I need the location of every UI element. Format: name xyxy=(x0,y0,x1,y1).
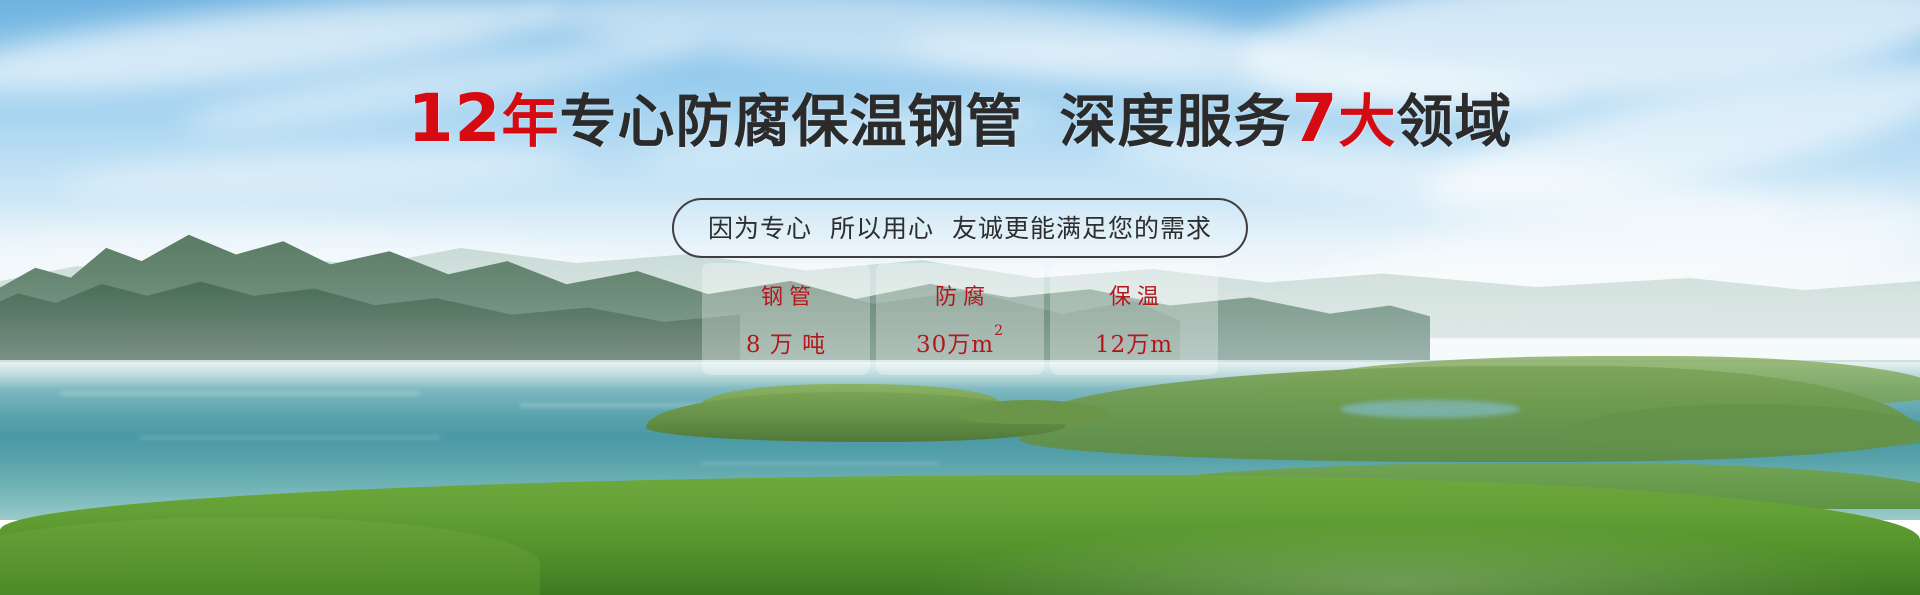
stat-card-insulation[interactable]: 保温 12万m xyxy=(1050,263,1218,375)
headline-years-number: 12 xyxy=(408,80,502,157)
stat-card-steel-pipe[interactable]: 钢管 8 万 吨 xyxy=(702,263,870,375)
water-reflection-streak xyxy=(60,392,420,395)
marsh-pool xyxy=(1340,400,1520,418)
stat-card-value: 8 万 吨 xyxy=(746,325,826,359)
headline-fields-unit: 大 xyxy=(1338,89,1396,155)
stat-value-text: 12万m xyxy=(1095,332,1173,358)
stat-card-value: 12万m xyxy=(1095,325,1173,359)
water-reflection-streak xyxy=(700,462,940,465)
banner-headline: 12年专心防腐保温钢管深度服务7大领域 xyxy=(0,86,1920,152)
slogan-phrase-1: 因为专心 xyxy=(708,214,812,243)
headline-fields-text: 领域 xyxy=(1396,89,1512,155)
headline-service-text: 深度服务 xyxy=(1059,89,1291,155)
headline-years-unit: 年 xyxy=(501,89,559,155)
stat-card-group: 钢管 8 万 吨 防腐 30万m2 保温 12万m xyxy=(702,263,1218,375)
stat-card-title: 钢管 xyxy=(755,279,817,311)
stat-card-value: 30万m2 xyxy=(916,325,1004,359)
stat-value-text: 8 万 吨 xyxy=(746,332,826,358)
stat-card-title: 保温 xyxy=(1103,279,1165,311)
stat-card-title: 防腐 xyxy=(929,279,991,311)
headline-main-text: 专心防腐保温钢管 xyxy=(559,89,1023,155)
slogan-pill: 因为专心所以用心友诚更能满足您的需求 xyxy=(672,198,1248,258)
hero-banner: 12年专心防腐保温钢管深度服务7大领域 因为专心所以用心友诚更能满足您的需求 钢… xyxy=(0,0,1920,595)
water-reflection-streak xyxy=(140,436,440,439)
slogan-phrase-3: 友诚更能满足您的需求 xyxy=(952,214,1212,243)
stat-value-superscript: 2 xyxy=(994,323,1004,339)
stat-value-text: 30万m xyxy=(916,332,994,358)
headline-fields-number: 7 xyxy=(1291,80,1338,157)
stat-card-anticorrosion[interactable]: 防腐 30万m2 xyxy=(876,263,1044,375)
slogan-phrase-2: 所以用心 xyxy=(830,214,934,243)
